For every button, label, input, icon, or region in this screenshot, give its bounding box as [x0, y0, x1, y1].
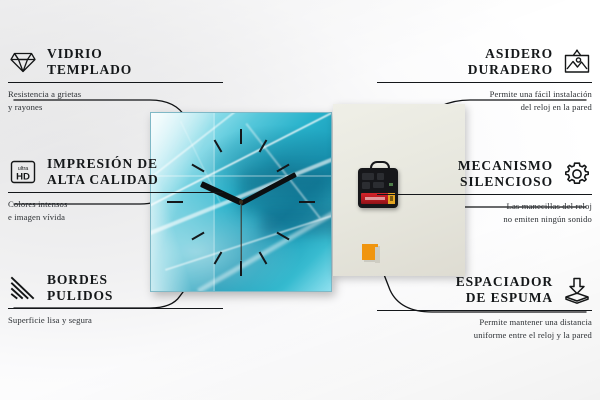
polished-edges-icon — [8, 273, 38, 303]
feature-divider — [8, 308, 223, 309]
feature-header: ESPACIADOR DE ESPUMA — [377, 274, 592, 305]
feature-title: ASIDERO DURADERO — [468, 46, 553, 77]
feature-header: ultra HD IMPRESIÓN DE ALTA CALIDAD — [8, 156, 223, 187]
feature-title: IMPRESIÓN DE ALTA CALIDAD — [47, 156, 159, 187]
feature-asidero-duradero: ASIDERO DURADERO Permite una fácil insta… — [377, 46, 592, 113]
feature-subtitle: Resistencia a grietas y rayones — [8, 88, 223, 112]
feature-header: MECANISMO SILENCIOSO — [377, 158, 592, 189]
feature-header: BORDES PULIDOS — [8, 272, 223, 303]
clock-second-hand — [240, 203, 241, 261]
feature-title: BORDES PULIDOS — [47, 272, 113, 303]
clock-tick — [299, 201, 315, 203]
feature-vidrio-templado: VIDRIO TEMPLADO Resistencia a grietas y … — [8, 46, 223, 113]
mechanism-detail — [362, 173, 374, 180]
diamond-icon — [8, 47, 38, 77]
feature-divider — [377, 310, 592, 311]
ultra-hd-badge-icon: ultra HD — [8, 157, 38, 187]
infographic-canvas: VIDRIO TEMPLADO Resistencia a grietas y … — [0, 0, 600, 400]
clock-tick — [240, 129, 242, 144]
foam-spacer-arrow-icon — [562, 275, 592, 305]
feature-mecanismo-silencioso: MECANISMO SILENCIOSO Las manecillas del … — [377, 158, 592, 225]
feature-divider — [377, 82, 592, 83]
feature-subtitle: Superficie lisa y segura — [8, 314, 223, 326]
feature-subtitle: Colores intensos e imagen vívida — [8, 198, 223, 222]
feature-title: MECANISMO SILENCIOSO — [458, 158, 553, 189]
feature-divider — [8, 82, 223, 83]
feature-header: VIDRIO TEMPLADO — [8, 46, 223, 77]
feature-title: VIDRIO TEMPLADO — [47, 46, 132, 77]
feature-header: ASIDERO DURADERO — [377, 46, 592, 77]
feature-divider — [377, 194, 592, 195]
feature-divider — [8, 192, 223, 193]
feature-espaciador-de-espuma: ESPACIADOR DE ESPUMA Permite mantener un… — [377, 274, 592, 341]
mechanism-detail — [362, 182, 370, 189]
foam-spacer — [362, 244, 378, 260]
feature-bordes-pulidos: BORDES PULIDOS Superficie lisa y segura — [8, 272, 223, 327]
clock-hands-hub — [239, 200, 243, 204]
feature-subtitle: Permite mantener una distancia uniforme … — [377, 316, 592, 340]
clock-tick — [240, 261, 242, 276]
svg-text:HD: HD — [16, 171, 30, 182]
feature-impresion-alta-calidad: ultra HD IMPRESIÓN DE ALTA CALIDAD Color… — [8, 156, 223, 223]
hanging-picture-icon — [562, 47, 592, 77]
feature-subtitle: Las manecillas del reloj no emiten ningú… — [377, 200, 592, 224]
feature-title: ESPACIADOR DE ESPUMA — [456, 274, 553, 305]
feature-subtitle: Permite una fácil instalación del reloj … — [377, 88, 592, 112]
gear-icon — [562, 159, 592, 189]
